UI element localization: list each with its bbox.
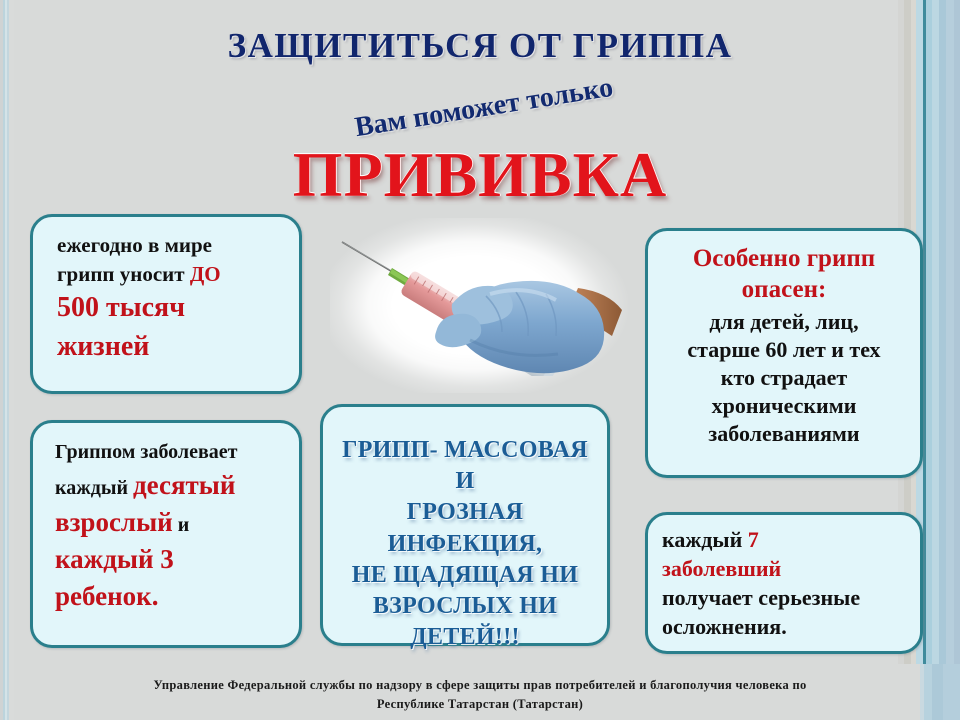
deaths-line-2-black: грипп уносит	[57, 262, 190, 286]
risk-body-5: заболеваниями	[662, 420, 906, 448]
info-box-complications: каждый 7 заболевший получает серьезные о…	[645, 512, 923, 654]
complications-line-1: каждый 7	[662, 525, 906, 554]
syringe-icon	[340, 236, 625, 376]
info-box-mass-infection: ГРИПП- МАССОВАЯ И ГРОЗНАЯ ИНФЕКЦИЯ, НЕ Щ…	[320, 404, 610, 646]
deaths-line-4: жизней	[57, 328, 285, 367]
deaths-line-2-red: ДО	[190, 262, 221, 286]
footer-attribution: Управление Федеральной службы по надзору…	[60, 676, 900, 715]
complications-line-2: заболевший	[662, 554, 906, 583]
risk-body-4: хроническими	[662, 392, 906, 420]
deaths-line-1: ежегодно в мире	[57, 231, 285, 260]
page-title: ЗАЩИТИТЬСЯ ОТ ГРИППА	[0, 26, 960, 66]
headline-vaccination: ПРИВИВКА	[0, 138, 960, 212]
incidence-line-4: каждый 3	[55, 541, 285, 578]
incidence-line-3: взрослый и	[55, 504, 285, 541]
incidence-line-2: каждый десятый	[55, 467, 285, 504]
left-edge-stripes	[0, 0, 14, 720]
mass-line-2: ГРОЗНАЯ ИНФЕКЦИЯ,	[337, 497, 593, 559]
incidence-line-3-black: и	[173, 514, 190, 536]
risk-body-1: для детей, лиц,	[662, 308, 906, 336]
subtitle-wrapper: Вам поможет только	[270, 86, 690, 146]
risk-body-2: старше 60 лет и тех	[662, 336, 906, 364]
mass-line-3: НЕ ЩАДЯЩАЯ НИ	[337, 560, 593, 591]
incidence-line-2-black: каждый	[55, 477, 133, 499]
risk-head-1: Особенно грипп	[662, 243, 906, 274]
incidence-line-5: ребенок.	[55, 578, 285, 615]
right-edge-stripes-tail	[898, 664, 960, 720]
complications-line-3: получает серьезные	[662, 583, 906, 612]
footer-line-2: Республике Татарстан (Татарстан)	[60, 695, 900, 714]
info-box-incidence: Гриппом заболевает каждый десятый взросл…	[30, 420, 302, 648]
info-box-deaths: ежегодно в мире грипп уносит ДО 500 тыся…	[30, 214, 302, 394]
incidence-line-2-red: десятый	[133, 470, 235, 500]
incidence-line-1: Гриппом заболевает	[55, 439, 285, 467]
deaths-line-3: 500 тысяч	[57, 289, 285, 328]
risk-body-3: кто страдает	[662, 364, 906, 392]
complications-line-4: осложнения.	[662, 612, 906, 641]
deaths-line-2: грипп уносит ДО	[57, 260, 285, 289]
complications-line-1-red: 7	[748, 527, 759, 552]
info-box-risk-groups: Особенно грипп опасен: для детей, лиц, с…	[645, 228, 923, 478]
poster-canvas: ЗАЩИТИТЬСЯ ОТ ГРИППА Вам поможет только …	[0, 0, 960, 720]
syringe-illustration	[330, 218, 630, 393]
complications-line-1-black: каждый	[662, 527, 748, 552]
mass-line-4: ВЗРОСЛЫХ НИ	[337, 591, 593, 622]
footer-line-1: Управление Федеральной службы по надзору…	[60, 676, 900, 695]
incidence-line-3-red: взрослый	[55, 507, 173, 537]
mass-line-1: ГРИПП- МАССОВАЯ И	[337, 435, 593, 497]
risk-head-2: опасен:	[662, 274, 906, 305]
mass-line-5: ДЕТЕЙ!!!	[337, 622, 593, 653]
